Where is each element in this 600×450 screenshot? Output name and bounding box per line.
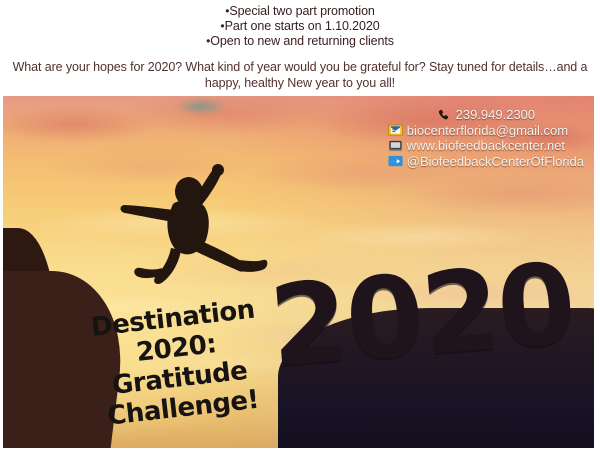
list-item: •Part one starts on 1.10.2020 [0, 19, 600, 34]
bullet-text: Part one starts on 1.10.2020 [225, 19, 380, 33]
bullet-text: Special two part promotion [229, 4, 374, 18]
list-item: •Open to new and returning clients [0, 34, 600, 49]
list-item: •Special two part promotion [0, 4, 600, 19]
teal-cloud-patch [174, 98, 227, 116]
flyer-photo: 2020 Destination 2020: Gratitude Challen… [3, 96, 594, 448]
bullet-text: Open to new and returning clients [210, 34, 394, 48]
contact-website-text: www.biofeedbackcenter.net [407, 138, 565, 154]
promo-bullet-list: •Special two part promotion •Part one st… [0, 0, 600, 49]
contact-email-text: biocenterflorida@gmail.com [407, 123, 568, 139]
contact-social-row[interactable]: @BiofeedbackCenterOfFlorida [388, 154, 584, 170]
phone-icon [437, 109, 452, 121]
contact-website-row[interactable]: www.biofeedbackcenter.net [388, 138, 584, 154]
promo-paragraph: What are your hopes for 2020? What kind … [0, 49, 600, 91]
contact-social-text: @BiofeedbackCenterOfFlorida [407, 154, 584, 170]
contact-block: 239.949.2300 biocenterflorida@gmail.com [388, 107, 584, 169]
laptop-icon [388, 140, 403, 152]
promo-text-block: •Special two part promotion •Part one st… [0, 0, 600, 96]
email-icon [388, 124, 403, 136]
arrow-right-icon [388, 155, 403, 167]
year-2020-graphic: 2020 [266, 248, 578, 383]
jumping-person-silhouette-icon [111, 148, 281, 318]
contact-phone-text: 239.949.2300 [456, 107, 536, 123]
contact-email-row[interactable]: biocenterflorida@gmail.com [388, 123, 584, 139]
contact-phone-row[interactable]: 239.949.2300 [388, 107, 584, 123]
